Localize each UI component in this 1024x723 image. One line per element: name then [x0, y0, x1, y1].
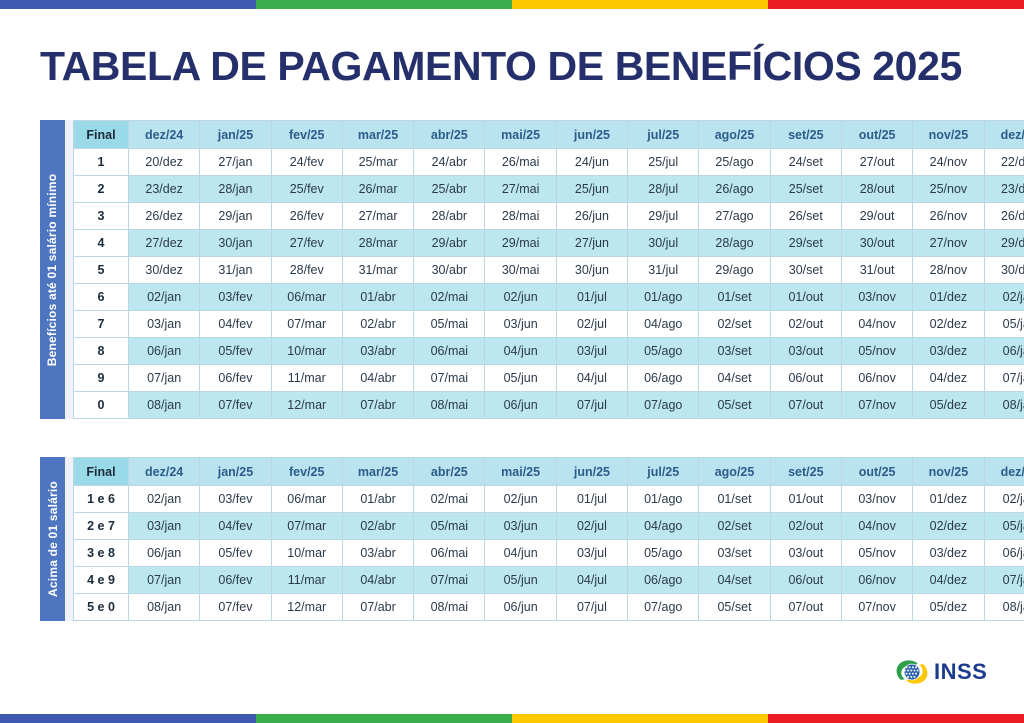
cell-payment-date: 02/jan	[129, 486, 200, 513]
cell-payment-date: 03/jun	[485, 311, 556, 338]
cell-payment-date: 05/mai	[414, 311, 485, 338]
cell-payment-date: 27/mar	[342, 203, 413, 230]
benefits-table-block-above-minimum: Acima de 01 salário Finaldez/24jan/25fev…	[40, 457, 1024, 621]
column-header-month: dez/24	[129, 458, 200, 486]
cell-payment-date: 31/jan	[200, 257, 271, 284]
cell-payment-date: 04/fev	[200, 311, 271, 338]
cell-payment-date: 05/jun	[485, 365, 556, 392]
side-label-text: Acima de 01 salário	[46, 481, 60, 597]
cell-payment-date: 08/jan	[984, 594, 1024, 621]
column-header-month: jun/25	[556, 458, 627, 486]
side-label-minimum-wage: Benefícios até 01 salário mínimo	[40, 120, 65, 419]
cell-final-digit: 5	[74, 257, 129, 284]
cell-payment-date: 02/set	[699, 311, 770, 338]
cell-payment-date: 04/set	[699, 567, 770, 594]
cell-payment-date: 04/set	[699, 365, 770, 392]
cell-payment-date: 08/jan	[129, 594, 200, 621]
cell-payment-date: 30/jul	[628, 230, 699, 257]
cell-payment-date: 11/mar	[271, 567, 342, 594]
cell-payment-date: 04/ago	[628, 513, 699, 540]
table-row: 907/jan06/fev11/mar04/abr07/mai05/jun04/…	[74, 365, 1024, 392]
cell-payment-date: 24/set	[770, 149, 841, 176]
cell-payment-date: 08/jan	[129, 392, 200, 419]
cell-payment-date: 12/mar	[271, 594, 342, 621]
cell-payment-date: 01/ago	[628, 284, 699, 311]
cell-payment-date: 04/nov	[841, 311, 912, 338]
cell-payment-date: 06/jun	[485, 392, 556, 419]
cell-payment-date: 07/mar	[271, 513, 342, 540]
cell-payment-date: 25/jun	[556, 176, 627, 203]
cell-payment-date: 26/nov	[913, 203, 984, 230]
benefits-table-block-minimum-wage: Benefícios até 01 salário mínimo Finalde…	[40, 120, 1024, 419]
cell-payment-date: 20/dez	[129, 149, 200, 176]
cell-payment-date: 06/jan	[129, 540, 200, 567]
column-header-month: jan/25	[200, 458, 271, 486]
column-header-month: dez/25	[984, 121, 1024, 149]
cell-payment-date: 03/fev	[200, 284, 271, 311]
column-header-month: set/25	[770, 458, 841, 486]
cell-payment-date: 07/mai	[414, 365, 485, 392]
cell-payment-date: 26/jun	[556, 203, 627, 230]
cell-payment-date: 27/out	[841, 149, 912, 176]
cell-payment-date: 03/set	[699, 540, 770, 567]
cell-final-digit: 3	[74, 203, 129, 230]
cell-payment-date: 22/dez	[984, 149, 1024, 176]
cell-final-digit: 4 e 9	[74, 567, 129, 594]
color-bar-segment-red	[768, 714, 1024, 723]
cell-payment-date: 05/fev	[200, 540, 271, 567]
cell-payment-date: 26/mar	[342, 176, 413, 203]
cell-payment-date: 02/jul	[556, 513, 627, 540]
cell-final-digit: 6	[74, 284, 129, 311]
cell-payment-date: 04/abr	[342, 365, 413, 392]
cell-payment-date: 27/nov	[913, 230, 984, 257]
cell-payment-date: 06/mar	[271, 284, 342, 311]
cell-payment-date: 07/jan	[129, 567, 200, 594]
cell-payment-date: 01/jul	[556, 284, 627, 311]
column-header-month: mar/25	[342, 121, 413, 149]
cell-payment-date: 26/fev	[271, 203, 342, 230]
cell-payment-date: 01/out	[770, 486, 841, 513]
cell-final-digit: 2 e 7	[74, 513, 129, 540]
cell-payment-date: 01/ago	[628, 486, 699, 513]
cell-payment-date: 31/jul	[628, 257, 699, 284]
cell-payment-date: 02/mai	[414, 284, 485, 311]
table-1-body: 120/dez27/jan24/fev25/mar24/abr26/mai24/…	[74, 149, 1024, 419]
table-row: 4 e 907/jan06/fev11/mar04/abr07/mai05/ju…	[74, 567, 1024, 594]
cell-payment-date: 02/jun	[485, 486, 556, 513]
table-row: 5 e 008/jan07/fev12/mar07/abr08/mai06/ju…	[74, 594, 1024, 621]
color-bar-segment-green	[256, 0, 512, 9]
cell-payment-date: 04/abr	[342, 567, 413, 594]
cell-payment-date: 29/mai	[485, 230, 556, 257]
cell-payment-date: 27/dez	[129, 230, 200, 257]
cell-payment-date: 30/set	[770, 257, 841, 284]
cell-payment-date: 07/fev	[200, 594, 271, 621]
cell-payment-date: 06/ago	[628, 365, 699, 392]
side-label-text: Benefícios até 01 salário mínimo	[46, 173, 60, 365]
cell-final-digit: 1	[74, 149, 129, 176]
cell-payment-date: 30/mai	[485, 257, 556, 284]
cell-payment-date: 01/abr	[342, 284, 413, 311]
bottom-color-bar	[0, 714, 1024, 723]
cell-payment-date: 07/nov	[841, 392, 912, 419]
cell-payment-date: 02/jan	[984, 284, 1024, 311]
cell-payment-date: 03/nov	[841, 284, 912, 311]
table-2-head: Finaldez/24jan/25fev/25mar/25abr/25mai/2…	[74, 458, 1024, 486]
cell-payment-date: 04/jun	[485, 540, 556, 567]
cell-payment-date: 27/ago	[699, 203, 770, 230]
column-header-month: nov/25	[913, 121, 984, 149]
cell-payment-date: 04/jul	[556, 567, 627, 594]
cell-payment-date: 23/dez	[129, 176, 200, 203]
table-1-header-row: Finaldez/24jan/25fev/25mar/25abr/25mai/2…	[74, 121, 1024, 149]
cell-payment-date: 03/nov	[841, 486, 912, 513]
column-header-month: dez/24	[129, 121, 200, 149]
cell-payment-date: 03/jul	[556, 338, 627, 365]
cell-final-digit: 7	[74, 311, 129, 338]
cell-payment-date: 05/jan	[984, 513, 1024, 540]
column-header-month: out/25	[841, 121, 912, 149]
cell-payment-date: 07/jan	[984, 365, 1024, 392]
cell-payment-date: 02/jul	[556, 311, 627, 338]
cell-payment-date: 29/jul	[628, 203, 699, 230]
cell-payment-date: 07/ago	[628, 392, 699, 419]
cell-payment-date: 28/jan	[200, 176, 271, 203]
cell-payment-date: 28/mar	[342, 230, 413, 257]
column-header-month: fev/25	[271, 458, 342, 486]
column-header-month: ago/25	[699, 458, 770, 486]
cell-payment-date: 05/set	[699, 594, 770, 621]
cell-payment-date: 08/mai	[414, 594, 485, 621]
color-bar-segment-blue	[0, 0, 256, 9]
cell-payment-date: 01/abr	[342, 486, 413, 513]
cell-payment-date: 02/dez	[913, 311, 984, 338]
payment-table-minimum-wage: Finaldez/24jan/25fev/25mar/25abr/25mai/2…	[73, 120, 1024, 419]
cell-payment-date: 06/jan	[984, 540, 1024, 567]
side-label-above-minimum: Acima de 01 salário	[40, 457, 65, 621]
cell-payment-date: 05/ago	[628, 540, 699, 567]
cell-payment-date: 10/mar	[271, 338, 342, 365]
column-header-month: jan/25	[200, 121, 271, 149]
column-header-final: Final	[74, 121, 129, 149]
cell-payment-date: 04/fev	[200, 513, 271, 540]
cell-payment-date: 31/mar	[342, 257, 413, 284]
column-header-month: nov/25	[913, 458, 984, 486]
cell-payment-date: 25/nov	[913, 176, 984, 203]
cell-payment-date: 03/set	[699, 338, 770, 365]
cell-payment-date: 07/fev	[200, 392, 271, 419]
cell-payment-date: 06/nov	[841, 567, 912, 594]
cell-payment-date: 29/jan	[200, 203, 271, 230]
cell-final-digit: 3 e 8	[74, 540, 129, 567]
cell-payment-date: 06/out	[770, 365, 841, 392]
cell-payment-date: 28/jul	[628, 176, 699, 203]
cell-payment-date: 30/abr	[414, 257, 485, 284]
table-row: 120/dez27/jan24/fev25/mar24/abr26/mai24/…	[74, 149, 1024, 176]
cell-payment-date: 29/abr	[414, 230, 485, 257]
side-gap-2	[65, 457, 73, 621]
column-header-month: abr/25	[414, 121, 485, 149]
cell-payment-date: 02/abr	[342, 311, 413, 338]
cell-payment-date: 02/abr	[342, 513, 413, 540]
top-color-bar	[0, 0, 1024, 9]
cell-payment-date: 12/mar	[271, 392, 342, 419]
cell-payment-date: 05/nov	[841, 540, 912, 567]
cell-payment-date: 03/jun	[485, 513, 556, 540]
cell-payment-date: 30/out	[841, 230, 912, 257]
cell-final-digit: 2	[74, 176, 129, 203]
cell-payment-date: 30/jun	[556, 257, 627, 284]
column-header-month: dez/25	[984, 458, 1024, 486]
cell-payment-date: 06/jan	[129, 338, 200, 365]
cell-payment-date: 28/abr	[414, 203, 485, 230]
cell-payment-date: 04/dez	[913, 365, 984, 392]
cell-payment-date: 06/fev	[200, 365, 271, 392]
table-row: 2 e 703/jan04/fev07/mar02/abr05/mai03/ju…	[74, 513, 1024, 540]
cell-payment-date: 03/out	[770, 338, 841, 365]
color-bar-segment-green	[256, 714, 512, 723]
cell-payment-date: 06/ago	[628, 567, 699, 594]
cell-payment-date: 06/out	[770, 567, 841, 594]
column-header-month: out/25	[841, 458, 912, 486]
cell-payment-date: 06/jan	[984, 338, 1024, 365]
cell-payment-date: 01/dez	[913, 284, 984, 311]
column-header-month: jul/25	[628, 121, 699, 149]
cell-payment-date: 04/jul	[556, 365, 627, 392]
cell-payment-date: 05/jan	[984, 311, 1024, 338]
column-header-month: ago/25	[699, 121, 770, 149]
cell-payment-date: 25/jul	[628, 149, 699, 176]
cell-payment-date: 27/jun	[556, 230, 627, 257]
column-header-month: fev/25	[271, 121, 342, 149]
cell-payment-date: 02/dez	[913, 513, 984, 540]
cell-payment-date: 05/dez	[913, 392, 984, 419]
cell-payment-date: 04/ago	[628, 311, 699, 338]
cell-payment-date: 30/jan	[200, 230, 271, 257]
cell-final-digit: 1 e 6	[74, 486, 129, 513]
cell-payment-date: 05/ago	[628, 338, 699, 365]
table-row: 3 e 806/jan05/fev10/mar03/abr06/mai04/ju…	[74, 540, 1024, 567]
cell-payment-date: 07/jan	[984, 567, 1024, 594]
cell-payment-date: 25/abr	[414, 176, 485, 203]
cell-payment-date: 06/mai	[414, 338, 485, 365]
cell-payment-date: 24/fev	[271, 149, 342, 176]
cell-payment-date: 03/abr	[342, 338, 413, 365]
cell-payment-date: 02/jun	[485, 284, 556, 311]
cell-payment-date: 07/jan	[129, 365, 200, 392]
cell-payment-date: 29/ago	[699, 257, 770, 284]
column-header-month: jun/25	[556, 121, 627, 149]
page-title: TABELA DE PAGAMENTO DE BENEFÍCIOS 2025	[40, 40, 984, 92]
cell-payment-date: 30/dez	[129, 257, 200, 284]
cell-payment-date: 11/mar	[271, 365, 342, 392]
table-row: 427/dez30/jan27/fev28/mar29/abr29/mai27/…	[74, 230, 1024, 257]
cell-payment-date: 26/set	[770, 203, 841, 230]
cell-payment-date: 24/nov	[913, 149, 984, 176]
color-bar-segment-red	[768, 0, 1024, 9]
cell-final-digit: 0	[74, 392, 129, 419]
cell-payment-date: 29/set	[770, 230, 841, 257]
cell-payment-date: 02/jan	[984, 486, 1024, 513]
cell-payment-date: 02/out	[770, 513, 841, 540]
cell-payment-date: 26/dez	[129, 203, 200, 230]
cell-payment-date: 28/ago	[699, 230, 770, 257]
column-header-month: set/25	[770, 121, 841, 149]
cell-payment-date: 06/jun	[485, 594, 556, 621]
cell-payment-date: 04/nov	[841, 513, 912, 540]
table-1-head: Finaldez/24jan/25fev/25mar/25abr/25mai/2…	[74, 121, 1024, 149]
cell-payment-date: 05/fev	[200, 338, 271, 365]
cell-payment-date: 04/jun	[485, 338, 556, 365]
cell-payment-date: 28/fev	[271, 257, 342, 284]
cell-payment-date: 07/nov	[841, 594, 912, 621]
table-row: 530/dez31/jan28/fev31/mar30/abr30/mai30/…	[74, 257, 1024, 284]
cell-payment-date: 03/abr	[342, 540, 413, 567]
cell-payment-date: 07/jul	[556, 594, 627, 621]
cell-payment-date: 05/nov	[841, 338, 912, 365]
cell-payment-date: 27/mai	[485, 176, 556, 203]
cell-payment-date: 05/set	[699, 392, 770, 419]
cell-payment-date: 07/out	[770, 594, 841, 621]
cell-payment-date: 27/jan	[200, 149, 271, 176]
cell-payment-date: 31/out	[841, 257, 912, 284]
cell-payment-date: 07/mai	[414, 567, 485, 594]
table-row: 008/jan07/fev12/mar07/abr08/mai06/jun07/…	[74, 392, 1024, 419]
column-header-month: mar/25	[342, 458, 413, 486]
cell-payment-date: 25/ago	[699, 149, 770, 176]
table-row: 326/dez29/jan26/fev27/mar28/abr28/mai26/…	[74, 203, 1024, 230]
cell-payment-date: 08/mai	[414, 392, 485, 419]
table-row: 1 e 602/jan03/fev06/mar01/abr02/mai02/ju…	[74, 486, 1024, 513]
inss-globe-swoosh-icon	[893, 656, 931, 688]
cell-payment-date: 05/dez	[913, 594, 984, 621]
color-bar-segment-yellow	[512, 0, 768, 9]
cell-payment-date: 28/out	[841, 176, 912, 203]
cell-payment-date: 03/dez	[913, 338, 984, 365]
cell-payment-date: 03/fev	[200, 486, 271, 513]
cell-payment-date: 10/mar	[271, 540, 342, 567]
cell-payment-date: 05/jun	[485, 567, 556, 594]
cell-payment-date: 02/out	[770, 311, 841, 338]
cell-payment-date: 07/abr	[342, 594, 413, 621]
cell-payment-date: 01/jul	[556, 486, 627, 513]
cell-payment-date: 07/jul	[556, 392, 627, 419]
cell-payment-date: 02/set	[699, 513, 770, 540]
inss-logo-text: INSS	[934, 659, 987, 685]
table-row: 223/dez28/jan25/fev26/mar25/abr27/mai25/…	[74, 176, 1024, 203]
cell-payment-date: 01/dez	[913, 486, 984, 513]
cell-payment-date: 08/jan	[984, 392, 1024, 419]
cell-payment-date: 06/nov	[841, 365, 912, 392]
cell-payment-date: 25/fev	[271, 176, 342, 203]
cell-payment-date: 05/mai	[414, 513, 485, 540]
cell-payment-date: 26/dez	[984, 203, 1024, 230]
cell-payment-date: 25/mar	[342, 149, 413, 176]
cell-payment-date: 26/ago	[699, 176, 770, 203]
cell-payment-date: 01/set	[699, 486, 770, 513]
cell-payment-date: 28/mai	[485, 203, 556, 230]
cell-payment-date: 03/out	[770, 540, 841, 567]
inss-logo: INSS	[893, 653, 1003, 691]
cell-payment-date: 02/jan	[129, 284, 200, 311]
cell-payment-date: 07/out	[770, 392, 841, 419]
cell-payment-date: 29/out	[841, 203, 912, 230]
table-row: 806/jan05/fev10/mar03/abr06/mai04/jun03/…	[74, 338, 1024, 365]
cell-payment-date: 02/mai	[414, 486, 485, 513]
color-bar-segment-yellow	[512, 714, 768, 723]
cell-payment-date: 03/jan	[129, 311, 200, 338]
cell-payment-date: 29/dez	[984, 230, 1024, 257]
cell-payment-date: 01/set	[699, 284, 770, 311]
cell-payment-date: 07/abr	[342, 392, 413, 419]
cell-payment-date: 26/mai	[485, 149, 556, 176]
cell-payment-date: 06/mai	[414, 540, 485, 567]
column-header-final: Final	[74, 458, 129, 486]
cell-payment-date: 27/fev	[271, 230, 342, 257]
table-row: 703/jan04/fev07/mar02/abr05/mai03/jun02/…	[74, 311, 1024, 338]
cell-payment-date: 01/out	[770, 284, 841, 311]
cell-payment-date: 23/dez	[984, 176, 1024, 203]
cell-payment-date: 07/mar	[271, 311, 342, 338]
column-header-month: jul/25	[628, 458, 699, 486]
color-bar-segment-blue	[0, 714, 256, 723]
cell-payment-date: 03/jul	[556, 540, 627, 567]
cell-payment-date: 30/dez	[984, 257, 1024, 284]
column-header-month: abr/25	[414, 458, 485, 486]
cell-payment-date: 03/jan	[129, 513, 200, 540]
table-2-header-row: Finaldez/24jan/25fev/25mar/25abr/25mai/2…	[74, 458, 1024, 486]
cell-payment-date: 07/ago	[628, 594, 699, 621]
cell-payment-date: 06/mar	[271, 486, 342, 513]
cell-final-digit: 9	[74, 365, 129, 392]
column-header-month: mai/25	[485, 458, 556, 486]
cell-final-digit: 5 e 0	[74, 594, 129, 621]
cell-payment-date: 04/dez	[913, 567, 984, 594]
side-gap-1	[65, 120, 73, 419]
cell-payment-date: 03/dez	[913, 540, 984, 567]
payment-table-above-minimum: Finaldez/24jan/25fev/25mar/25abr/25mai/2…	[73, 457, 1024, 621]
cell-final-digit: 8	[74, 338, 129, 365]
cell-payment-date: 28/nov	[913, 257, 984, 284]
column-header-month: mai/25	[485, 121, 556, 149]
cell-payment-date: 24/abr	[414, 149, 485, 176]
cell-payment-date: 06/fev	[200, 567, 271, 594]
cell-payment-date: 25/set	[770, 176, 841, 203]
cell-final-digit: 4	[74, 230, 129, 257]
table-row: 602/jan03/fev06/mar01/abr02/mai02/jun01/…	[74, 284, 1024, 311]
cell-payment-date: 24/jun	[556, 149, 627, 176]
table-2-body: 1 e 602/jan03/fev06/mar01/abr02/mai02/ju…	[74, 486, 1024, 621]
